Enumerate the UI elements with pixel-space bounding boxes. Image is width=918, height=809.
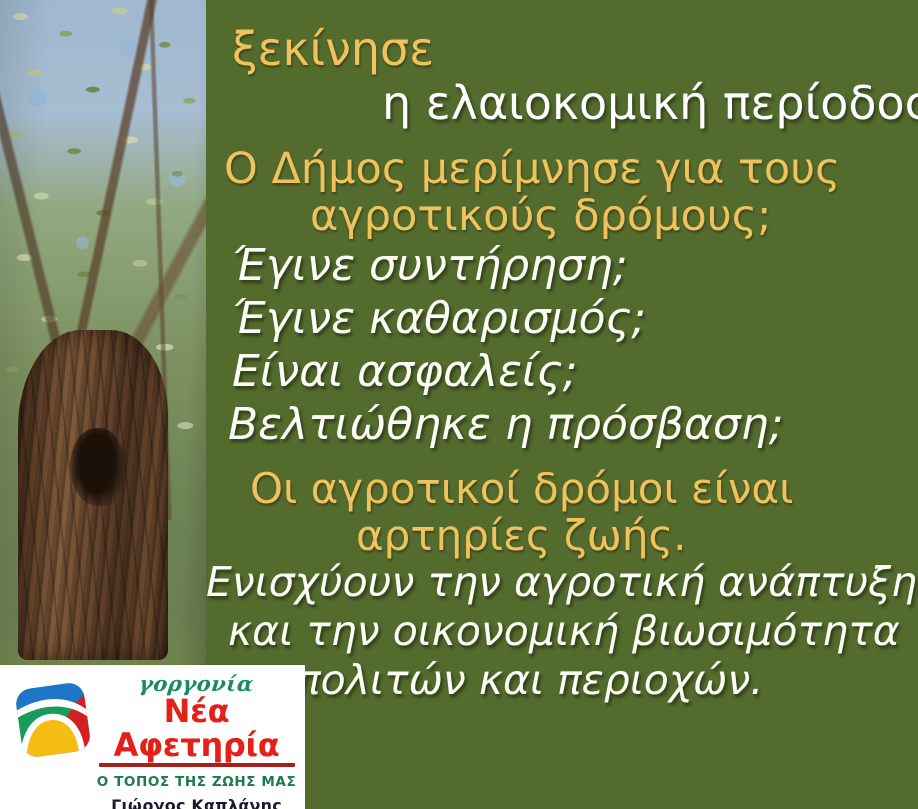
poster-root: ξεκίνησε η ελαιοκομική περίοδος Ο Δήμος … [0,0,918,809]
question-access: Βελτιώθηκε η πρόσβαση; [228,403,784,447]
headline-line-1: ξεκίνησε [232,26,434,72]
subhead-line-1: Ο Δήμος μερίμνησε για τους [224,148,840,191]
question-safety: Είναι ασφαλείς; [232,350,577,394]
logo-text-block: γοργονία Νέα Αφετηρία Ο ΤΟΠΟΣ ΤΗΣ ΖΩΗΣ Μ… [96,665,305,809]
question-maintenance: Έγινε συντήρηση; [232,244,628,288]
campaign-logo-card: γοργονία Νέα Αφετηρία Ο ΤΟΠΟΣ ΤΗΣ ΖΩΗΣ Μ… [0,665,305,809]
closing-line-2: και την οικονομική βιωσιμότητα [228,611,900,652]
text-column: ξεκίνησε η ελαιοκομική περίοδος Ο Δήμος … [206,0,918,809]
logo-person-name: Γιώργος Καπλάνης [96,796,297,809]
subhead-line-2: αγροτικούς δρόμους; [310,195,771,238]
closing-line-3: πολιτών και περιοχών. [296,660,763,701]
question-cleaning: Έγινε καθαρισμός; [232,297,646,341]
logo-divider [99,763,295,767]
statement-line-1: Οι αγροτικοί δρόμοι είναι [250,468,793,510]
statement-line-2: αρτηρίες ζωής. [356,515,686,557]
logo-script-word: γοργονία [95,673,298,694]
logo-mark-icon [14,681,92,759]
logo-tagline: Ο ΤΟΠΟΣ ΤΗΣ ΖΩΗΣ ΜΑΣ [96,774,297,790]
closing-line-1: Ενισχύουν την αγροτική ανάπτυξη [206,562,917,603]
logo-title: Νέα Αφετηρία [96,695,297,762]
headline-line-2: η ελαιοκομική περίοδος [382,80,918,126]
